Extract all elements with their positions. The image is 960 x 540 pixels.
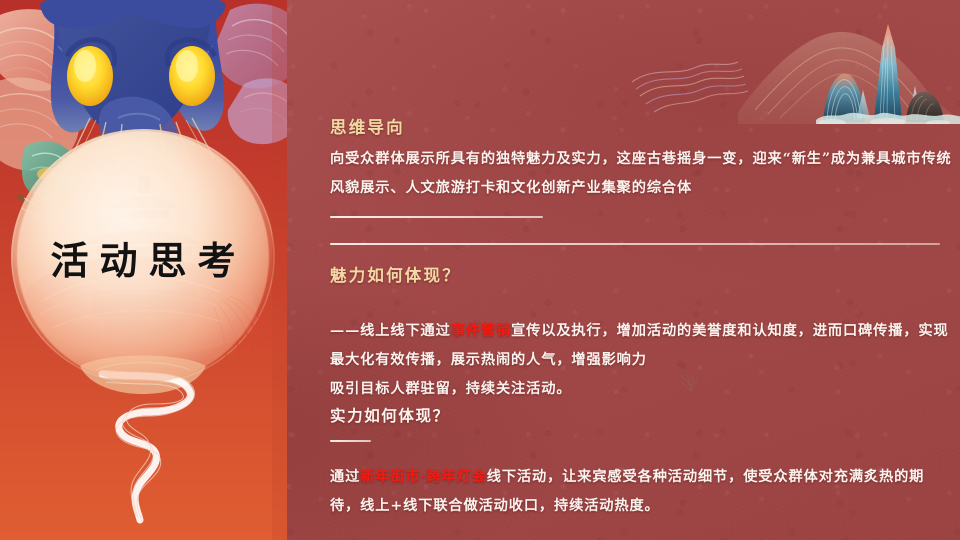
slide-root: 活动思考 思维导向 向受众群体展示所具有的独特魅力及实力，这座古巷摇身一变，迎来… (0, 0, 960, 540)
divider-short (330, 216, 543, 218)
ink-speck-decoration (676, 372, 702, 394)
paragraph-power: 通过新年街市·跨年灯会线下活动，让来宾感受各种活动细节，使受众群体对充满炙热的期… (330, 463, 952, 521)
content-area: 思维导向 向受众群体展示所具有的独特魅力及实力，这座古巷摇身一变，迎来“新生”成… (330, 0, 960, 540)
left-decorative-panel: 活动思考 (0, 0, 287, 540)
section-heading-thinking-direction: 思维导向 (330, 114, 405, 138)
paragraph-charm-pre: ——线上线下通过 (330, 323, 451, 339)
divider-dash (330, 440, 371, 442)
divider-long (330, 243, 940, 245)
page-title: 活动思考 (17, 131, 269, 383)
section-heading-charm-question: 魅力如何体现？ (330, 262, 461, 286)
highlight-newyear-market-lantern-fair: 新年街市·跨年灯会 (360, 469, 487, 485)
section-heading-power-question: 实力如何体现？ (330, 404, 450, 426)
highlight-event-marketing: 事件营销 (451, 323, 511, 339)
paragraph-charm: ——线上线下通过事件营销宣传以及执行，增加活动的美誉度和认知度，进而口碑传播，实… (330, 317, 952, 375)
paragraph-extra: 吸引目标人群驻留，持续关注活动。 (330, 375, 952, 404)
paragraph-intro: 向受众群体展示所具有的独特魅力及实力，这座古巷摇身一变，迎来“新生”成为兼具城市… (330, 145, 952, 203)
paragraph-power-pre: 通过 (330, 469, 360, 485)
